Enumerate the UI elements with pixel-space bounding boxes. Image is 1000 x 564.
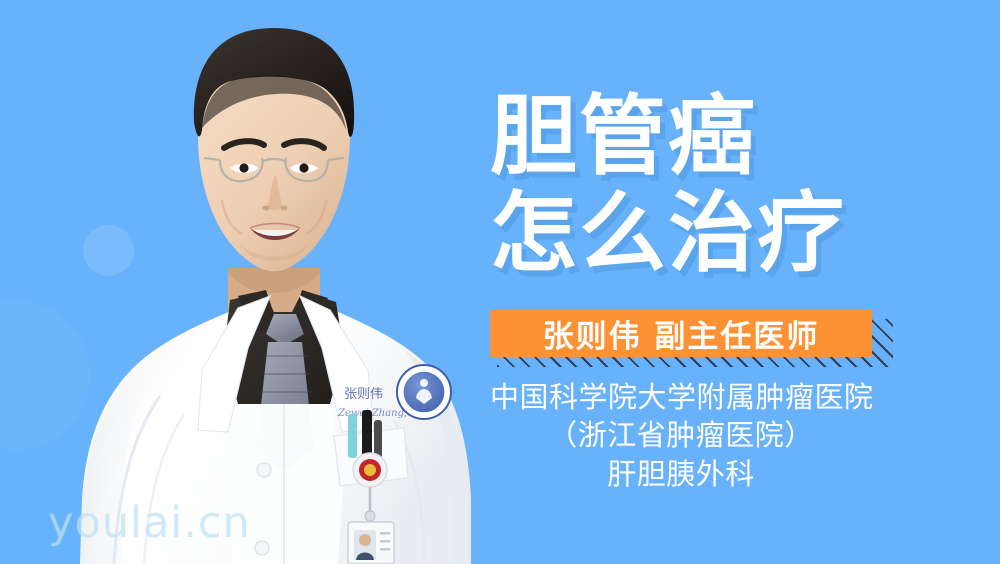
doctor-portrait-photo: 张则伟 Zewei Zhang, MD (52, 0, 472, 564)
page-title: 胆管癌 怎么治疗 (490, 88, 846, 283)
affiliation-line-2: （浙江省肿瘤医院） (490, 416, 872, 454)
affiliation-line-1: 中国科学院大学附属肿瘤医院 (490, 378, 872, 416)
coat-button (257, 463, 271, 477)
hospital-crest-logo (397, 365, 451, 419)
doctor-name-title-text: 张则伟 副主任医师 (543, 311, 820, 356)
coat-button (255, 541, 269, 555)
pen-teal (348, 414, 357, 458)
id-card (348, 522, 394, 564)
affiliation-line-3: 肝胆胰外科 (490, 455, 872, 493)
coat-embroidered-name: 张则伟 (344, 387, 383, 402)
hospital-affiliation: 中国科学院大学附属肿瘤医院 （浙江省肿瘤医院） 肝胆胰外科 (490, 378, 872, 493)
poster-canvas: 张则伟 Zewei Zhang, MD (0, 0, 1000, 564)
title-line-1: 胆管癌 (490, 88, 846, 185)
doctor-name-badge: 张则伟 副主任医师 (490, 310, 872, 357)
title-line-2: 怎么治疗 (490, 185, 846, 282)
